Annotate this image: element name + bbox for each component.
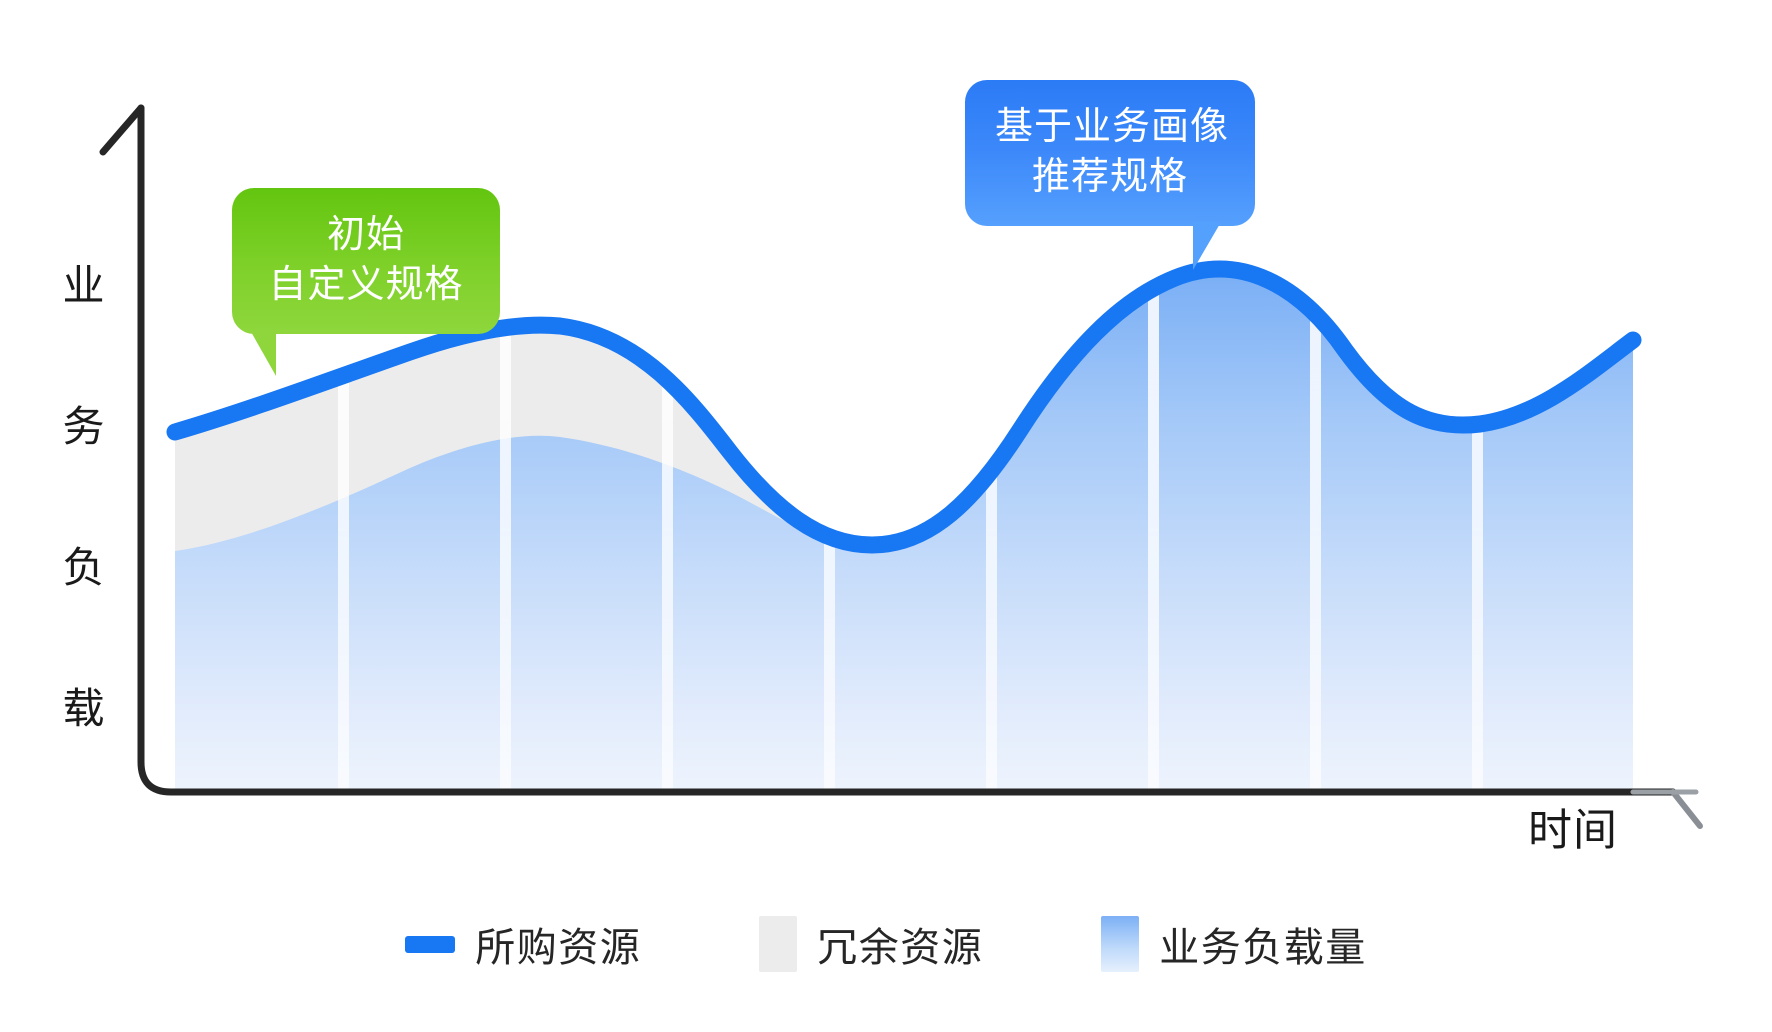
y-axis-title-char: 负 — [58, 544, 110, 591]
segment-divider — [1310, 60, 1321, 792]
y-axis-title: 业 务 负 载 — [58, 168, 110, 826]
callout-recommended-spec: 基于业务画像 推荐规格 — [965, 80, 1255, 226]
series-business-load-area — [175, 269, 1633, 792]
chart-legend: 所购资源 冗余资源 业务负载量 — [0, 915, 1772, 973]
legend-item-business-load: 业务负载量 — [1101, 915, 1367, 973]
callout-initial-spec-line2: 自定义规格 — [262, 260, 470, 310]
x-axis-arrow-icon — [1673, 792, 1700, 826]
legend-item-purchased-resources: 所购资源 — [405, 915, 641, 973]
callout-initial-spec: 初始 自定义规格 — [232, 188, 500, 334]
y-axis-arrow-icon — [103, 108, 141, 152]
y-axis-title-char: 业 — [58, 262, 110, 309]
callout-initial-spec-line1: 初始 — [262, 210, 470, 260]
segment-divider — [662, 60, 673, 792]
callout-tail — [250, 330, 276, 376]
y-axis-title-char: 载 — [58, 685, 110, 732]
chart-canvas: 业 务 负 载 时间 初始 自定义规格 基于业务画像 推荐规格 所购资源 冗余资… — [0, 0, 1772, 1032]
legend-label: 冗余资源 — [817, 915, 983, 973]
legend-item-redundant-resources: 冗余资源 — [759, 915, 983, 973]
x-axis-title: 时间 — [1528, 806, 1618, 855]
y-axis-title-char: 务 — [58, 403, 110, 450]
callout-tail — [1193, 222, 1221, 270]
segment-divider — [338, 60, 349, 792]
segment-divider — [500, 60, 511, 792]
callout-recommended-spec-line2: 推荐规格 — [995, 152, 1225, 202]
legend-label: 业务负载量 — [1159, 915, 1367, 973]
legend-label: 所购资源 — [475, 915, 641, 973]
legend-swatch-gradient-icon — [1101, 916, 1139, 972]
segment-divider — [824, 60, 835, 792]
legend-swatch-box-icon — [759, 916, 797, 972]
chart-svg — [0, 0, 1772, 1032]
callout-recommended-spec-line1: 基于业务画像 — [995, 102, 1225, 152]
legend-swatch-line-icon — [405, 936, 455, 953]
